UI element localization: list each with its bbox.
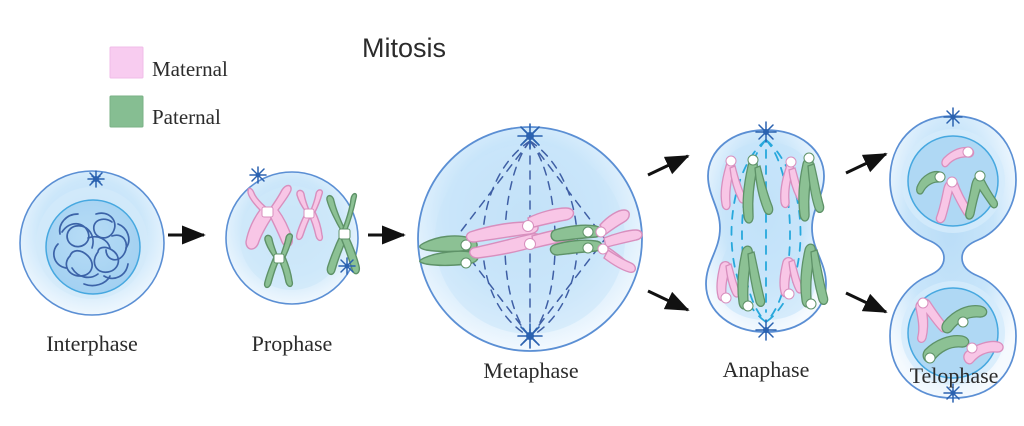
anaphase-centrosome-icon-top <box>756 122 776 142</box>
legend-label-paternal: Paternal <box>152 105 221 129</box>
centromere <box>583 243 593 253</box>
centromere <box>806 299 816 309</box>
page-title: Mitosis <box>362 33 446 63</box>
interphase-centrosome-icon <box>88 171 104 187</box>
centromere <box>461 258 471 268</box>
metaphase-centrosome-icon-bottom <box>518 324 542 348</box>
stage-label-telophase: Telophase <box>910 363 999 388</box>
centromere <box>598 244 608 254</box>
stage-label-interphase: Interphase <box>46 331 138 356</box>
centromere <box>804 153 814 163</box>
centromere <box>975 171 985 181</box>
centromere <box>935 172 945 182</box>
metaphase-chromosome-paternal-2 <box>550 225 602 255</box>
centromere <box>963 147 973 157</box>
maternal-swatch <box>110 47 143 78</box>
centromere <box>967 343 977 353</box>
centromere <box>784 289 794 299</box>
centromere <box>274 254 284 263</box>
diagram-canvas: Mitosis Maternal Paternal <box>0 0 1024 426</box>
anaphase-centrosome-icon-bottom <box>756 320 776 340</box>
centromere <box>339 229 350 239</box>
centromere <box>743 301 753 311</box>
stage-interphase: Interphase <box>20 171 164 356</box>
paternal-swatch <box>110 96 143 127</box>
stage-prophase: Prophase <box>226 167 359 356</box>
stage-label-metaphase: Metaphase <box>483 358 578 383</box>
stage-telophase: Telophase <box>890 108 1016 402</box>
prophase-centrosome-icon-bottom <box>339 258 355 274</box>
stage-label-anaphase: Anaphase <box>723 357 810 382</box>
mitosis-diagram-figure: Mitosis Maternal Paternal <box>0 0 1024 426</box>
centromere <box>583 227 593 237</box>
centromere <box>523 221 534 232</box>
arrow-anaphase-to-telophase-upper <box>846 154 886 173</box>
legend-label-maternal: Maternal <box>152 57 228 81</box>
centromere <box>721 293 731 303</box>
legend-item-paternal: Paternal <box>110 96 221 129</box>
centromere <box>786 157 796 167</box>
centromere <box>596 227 606 237</box>
arrow-metaphase-to-anaphase-upper <box>648 156 688 175</box>
centromere <box>748 155 758 165</box>
legend: Maternal Paternal <box>110 47 228 129</box>
centromere <box>304 209 314 218</box>
centromere <box>947 177 957 187</box>
stage-anaphase: Anaphase <box>706 122 828 382</box>
arrow-metaphase-to-anaphase-lower <box>648 291 688 310</box>
centromere <box>262 207 273 217</box>
metaphase-centrosome-icon-top <box>518 124 542 148</box>
stage-label-prophase: Prophase <box>252 331 333 356</box>
centromere <box>726 156 736 166</box>
prophase-centrosome-icon-top <box>250 167 266 183</box>
centromere <box>958 317 968 327</box>
centromere <box>918 298 928 308</box>
centromere <box>925 353 935 363</box>
legend-item-maternal: Maternal <box>110 47 228 81</box>
stage-metaphase: Metaphase <box>418 124 642 383</box>
centromere <box>525 239 536 250</box>
telophase-centrosome-icon-top <box>944 108 962 126</box>
arrow-anaphase-to-telophase-lower <box>846 293 886 312</box>
